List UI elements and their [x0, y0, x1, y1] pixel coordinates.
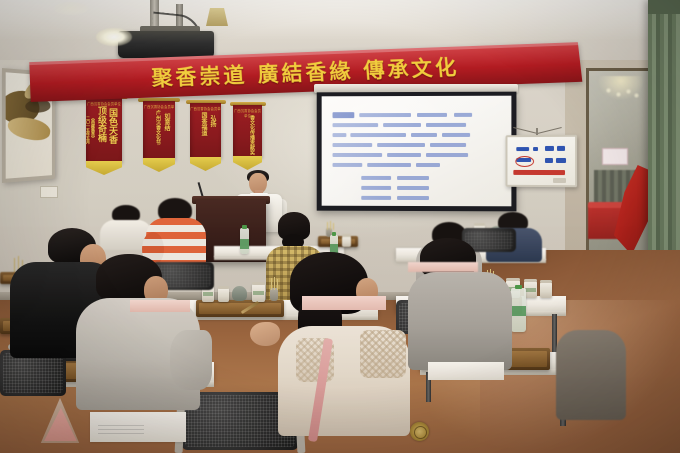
pennant-1-col-left: 顶级奇楠	[97, 106, 106, 142]
jar-mid-6	[540, 282, 552, 298]
pennant-4-col-left: 香文化传播贡献奖	[249, 115, 254, 155]
classroom-photo: 广西沉香协会会员单位 国色天香 顶级奇楠 《典藏集萃》 二〇一五年五月 广西沉香…	[0, 0, 680, 453]
pink-placemat	[302, 296, 386, 310]
projection-screen	[317, 92, 517, 212]
pennant-2-col-right: 如意结	[163, 113, 169, 131]
pennant-1-footer-left: 二〇一五年五月	[86, 116, 90, 144]
pennant-1: 广西沉香协会会员单位 国色天香 顶级奇楠 《典藏集萃》 二〇一五年五月	[86, 98, 122, 162]
screen-gloss	[322, 96, 512, 207]
pennant-1-col-right: 国色天香	[108, 108, 117, 144]
pink-placemat-2	[130, 300, 190, 312]
student-ponytail-lace-sleeve	[360, 330, 406, 378]
handout-paper-text	[98, 424, 144, 434]
pennant-3-col-right: 弘扬	[209, 115, 215, 127]
projector-lamp	[96, 28, 132, 46]
ceiling-light-spot	[54, 2, 88, 15]
pennant-1-footer-right: 《典藏集萃》	[91, 116, 95, 140]
student-edge-right-body	[556, 330, 626, 420]
pennant-2: 广西沉香协会会员单位 如意结 广州沉香文化节	[143, 101, 175, 159]
chandelier-icon	[598, 76, 644, 100]
whiteboard-tray	[553, 178, 566, 183]
water-bottle-2[interactable]	[511, 288, 526, 332]
student-hand	[250, 322, 280, 346]
tray-mid-1	[196, 300, 284, 317]
censer-mid-1	[232, 286, 247, 301]
jar-mid-2	[218, 288, 229, 302]
display-poster	[602, 148, 628, 165]
projector-icon	[118, 31, 214, 58]
pennant-4-header: 广西沉香协会会员单位	[233, 108, 262, 118]
wall-switch[interactable]	[40, 186, 58, 198]
whiteboard[interactable]	[506, 135, 578, 187]
handout-paper-2[interactable]	[428, 362, 504, 380]
jar-back-1	[342, 236, 351, 247]
pennant-4: 广西沉香协会会员单位 香文化传播贡献奖	[233, 105, 262, 157]
pennant-3-col-left: 国香福道	[200, 112, 206, 136]
jar-mid-3	[252, 284, 265, 302]
water-bottle-1[interactable]	[240, 228, 249, 254]
curtain-rail	[648, 0, 680, 14]
student-grey-tshirt-arm	[170, 330, 212, 390]
screen-surface	[322, 96, 512, 207]
student-grey-right-body	[408, 272, 512, 370]
podium-emblem-icon	[410, 422, 429, 441]
emblem-inner-ring	[414, 426, 427, 439]
pennant-2-col-left: 广州沉香文化节	[155, 110, 160, 145]
tray-back-1	[318, 236, 358, 247]
pink-placemat-3	[408, 262, 478, 272]
pennant-3: 广西沉香协会会员单位 弘扬 国香福道	[190, 103, 221, 158]
